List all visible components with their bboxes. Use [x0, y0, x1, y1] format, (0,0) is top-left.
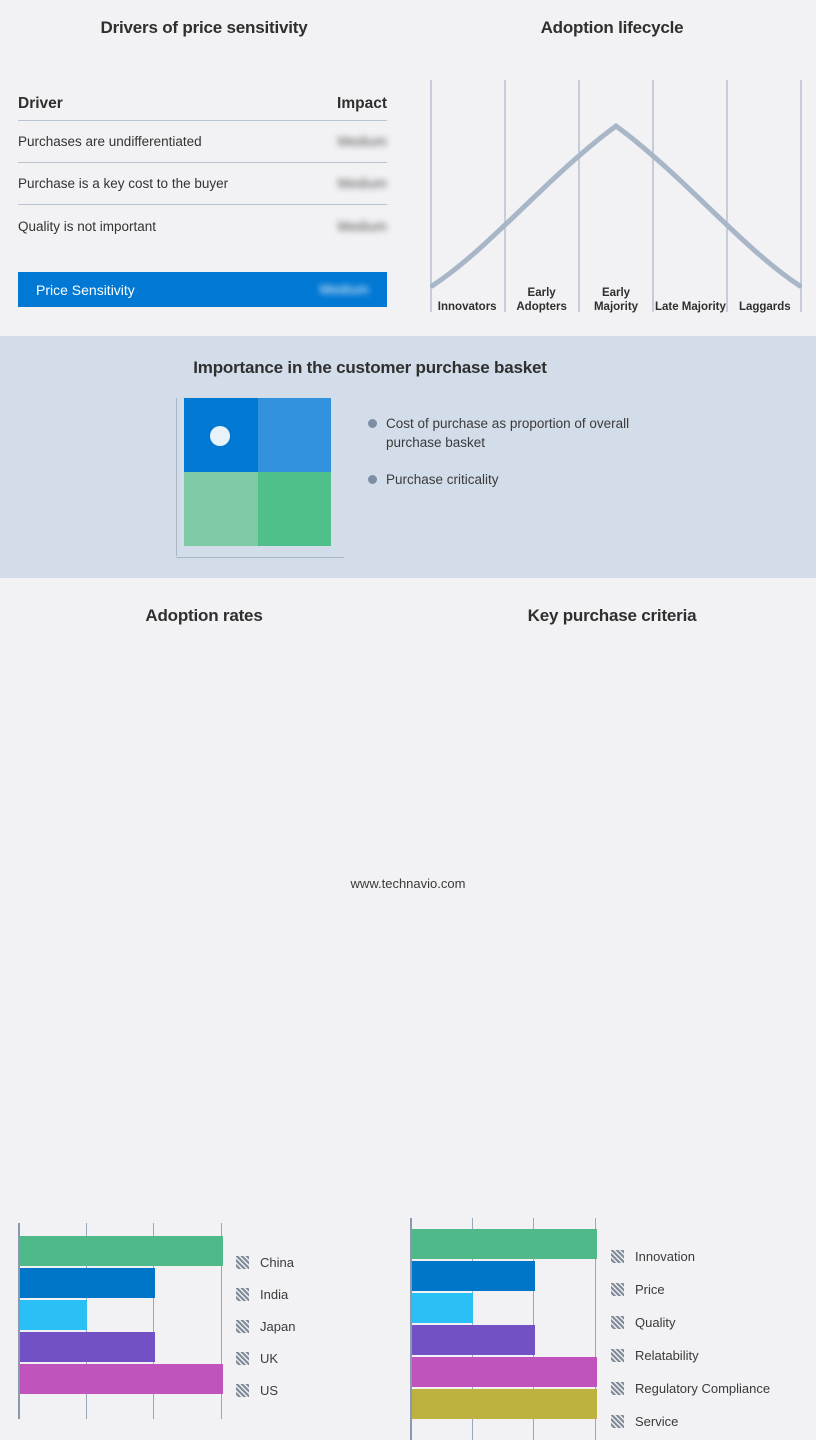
- purchase-basket-matrix: [176, 398, 344, 558]
- matrix-quadrant-bottom-right: [258, 472, 332, 546]
- legend-label: Service: [635, 1414, 678, 1429]
- adoption-rates-plot-area: [18, 1223, 223, 1419]
- hatched-swatch-icon: [611, 1283, 624, 1296]
- price-sensitivity-label: Price Sensitivity: [36, 282, 135, 298]
- bar-uk: [20, 1332, 155, 1362]
- legend-item: US: [236, 1374, 295, 1406]
- lifecycle-category-late-majority: Late Majority: [653, 276, 727, 316]
- bullet-icon: [368, 475, 377, 484]
- legend-item: Price: [611, 1273, 770, 1306]
- legend-item: Relatability: [611, 1339, 770, 1372]
- matrix-quadrant-top-left: [184, 398, 258, 472]
- matrix-quadrant-top-right: [258, 398, 332, 472]
- legend-item: China: [236, 1246, 295, 1278]
- lifecycle-category-laggards: Laggards: [728, 276, 802, 316]
- hatched-swatch-icon: [611, 1250, 624, 1263]
- adoption-rates-panel: Adoption rates China India Japan: [0, 578, 408, 902]
- purchase-basket-panel: Importance in the customer purchase bask…: [0, 336, 816, 578]
- impact-value: Medium: [317, 176, 387, 191]
- hatched-swatch-icon: [236, 1256, 249, 1269]
- table-row: Quality is not important Medium: [18, 205, 387, 247]
- drivers-panel: Drivers of price sensitivity Driver Impa…: [0, 0, 408, 336]
- impact-value-redacted: Medium: [338, 176, 387, 191]
- legend-label: Innovation: [635, 1249, 695, 1264]
- lifecycle-category-innovators: Innovators: [430, 276, 504, 316]
- bar-regulatory-compliance: [412, 1357, 597, 1387]
- matrix-quadrant-bottom-left: [184, 472, 258, 546]
- lifecycle-category-labels: Innovators Early Adopters Early Majority…: [430, 276, 802, 316]
- hatched-swatch-icon: [236, 1352, 249, 1365]
- key-purchase-criteria-bars: [412, 1229, 597, 1421]
- column-header-impact: Impact: [317, 95, 387, 113]
- bar-china: [20, 1236, 223, 1266]
- key-purchase-criteria-legend: Innovation Price Quality Relatability Re…: [611, 1240, 770, 1438]
- legend-label: Cost of purchase as proportion of overal…: [386, 414, 656, 452]
- table-header-row: Driver Impact: [18, 88, 387, 121]
- key-purchase-criteria-plot-area: [410, 1218, 597, 1440]
- bar-relatability: [412, 1325, 535, 1355]
- key-purchase-criteria-title: Key purchase criteria: [408, 606, 816, 626]
- legend-label: Relatability: [635, 1348, 699, 1363]
- adoption-bell-curve: [432, 126, 800, 286]
- key-purchase-criteria-panel: Key purchase criteria Innovation Price: [408, 578, 816, 902]
- hatched-swatch-icon: [611, 1382, 624, 1395]
- purchase-basket-legend: Cost of purchase as proportion of overal…: [368, 414, 698, 507]
- matrix-quadrants: [184, 398, 331, 546]
- adoption-lifecycle-panel: Adoption lifecycle Innovators Early Adop…: [408, 0, 816, 336]
- bullet-icon: [368, 419, 377, 428]
- matrix-y-axis: [176, 398, 177, 556]
- legend-label: India: [260, 1287, 288, 1302]
- bar-quality: [412, 1293, 473, 1323]
- bar-innovation: [412, 1229, 597, 1259]
- legend-label: Japan: [260, 1319, 295, 1334]
- hatched-swatch-icon: [611, 1316, 624, 1329]
- table-row: Purchases are undifferentiated Medium: [18, 121, 387, 163]
- footer-url: www.technavio.com: [0, 876, 816, 891]
- driver-label: Purchase is a key cost to the buyer: [18, 176, 228, 191]
- purchase-basket-title: Importance in the customer purchase bask…: [0, 358, 740, 378]
- legend-label: Regulatory Compliance: [635, 1381, 770, 1396]
- hatched-swatch-icon: [611, 1349, 624, 1362]
- legend-item: India: [236, 1278, 295, 1310]
- legend-label: UK: [260, 1351, 278, 1366]
- impact-value-redacted: Medium: [338, 219, 387, 234]
- legend-item: Innovation: [611, 1240, 770, 1273]
- legend-label: Purchase criticality: [386, 470, 499, 489]
- hatched-swatch-icon: [611, 1415, 624, 1428]
- hatched-swatch-icon: [236, 1288, 249, 1301]
- bar-price: [412, 1261, 535, 1291]
- legend-label: Price: [635, 1282, 665, 1297]
- adoption-lifecycle-title: Adoption lifecycle: [408, 18, 816, 38]
- driver-label: Quality is not important: [18, 219, 156, 234]
- legend-item: UK: [236, 1342, 295, 1374]
- impact-value-redacted: Medium: [320, 282, 369, 297]
- legend-label: US: [260, 1383, 278, 1398]
- legend-item: Quality: [611, 1306, 770, 1339]
- drivers-title: Drivers of price sensitivity: [0, 18, 408, 38]
- matrix-x-axis: [176, 557, 344, 558]
- bar-japan: [20, 1300, 87, 1330]
- bar-service: [412, 1389, 597, 1419]
- column-header-driver: Driver: [18, 95, 63, 113]
- hatched-swatch-icon: [236, 1320, 249, 1333]
- legend-item: Purchase criticality: [368, 470, 698, 489]
- legend-item: Regulatory Compliance: [611, 1372, 770, 1405]
- legend-label: Quality: [635, 1315, 675, 1330]
- impact-value-redacted: Medium: [338, 134, 387, 149]
- legend-item: Cost of purchase as proportion of overal…: [368, 414, 698, 452]
- price-sensitivity-impact: Medium: [320, 281, 369, 299]
- hatched-swatch-icon: [236, 1384, 249, 1397]
- impact-value: Medium: [317, 219, 387, 234]
- adoption-rates-bars: [20, 1236, 223, 1396]
- adoption-rates-title: Adoption rates: [0, 606, 408, 626]
- drivers-table: Driver Impact Purchases are undifferenti…: [18, 88, 387, 247]
- impact-value: Medium: [317, 134, 387, 149]
- driver-label: Purchases are undifferentiated: [18, 134, 202, 149]
- table-row: Purchase is a key cost to the buyer Medi…: [18, 163, 387, 205]
- position-marker-dot: [210, 426, 230, 446]
- bar-us: [20, 1364, 223, 1394]
- legend-label: China: [260, 1255, 294, 1270]
- legend-item: Service: [611, 1405, 770, 1438]
- bar-india: [20, 1268, 155, 1298]
- lifecycle-category-early-majority: Early Majority: [579, 276, 653, 316]
- price-sensitivity-summary-bar: Price Sensitivity Medium: [18, 272, 387, 307]
- legend-item: Japan: [236, 1310, 295, 1342]
- adoption-rates-legend: China India Japan UK US: [236, 1246, 295, 1406]
- lifecycle-category-early-adopters: Early Adopters: [504, 276, 578, 316]
